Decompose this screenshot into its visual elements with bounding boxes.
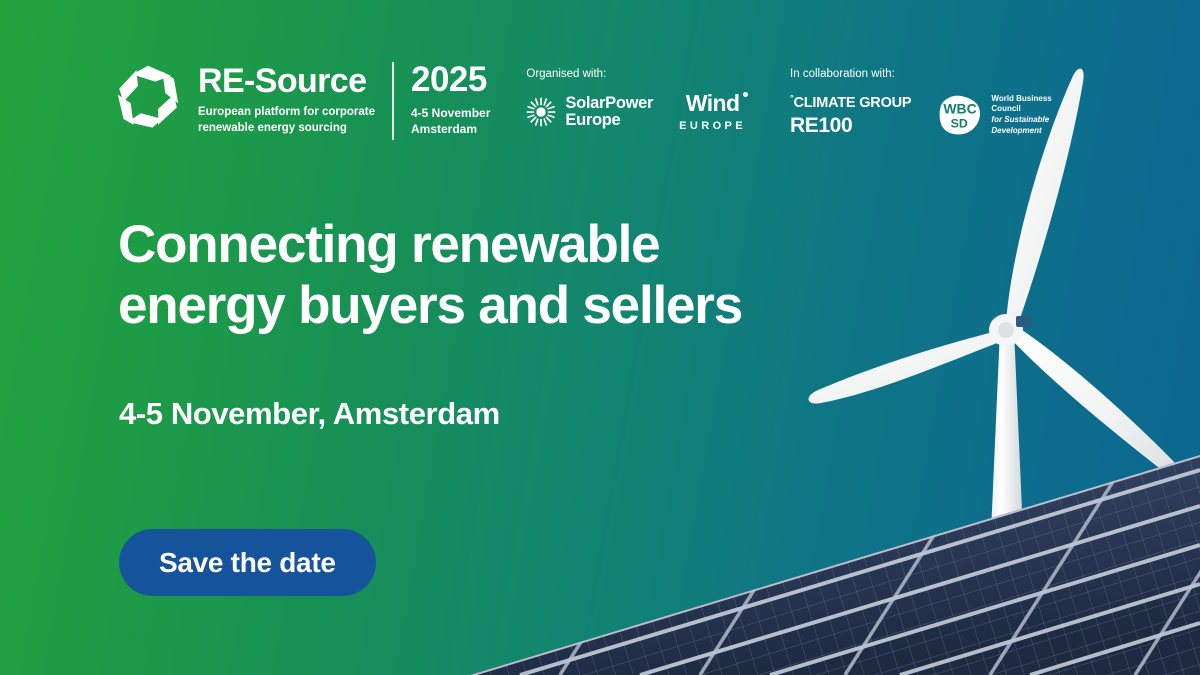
svg-text:WBC: WBC [944,100,977,116]
brand-tagline-line1: European platform for corporate [198,106,375,118]
organised-with-group: Organised with: [526,68,746,132]
svg-text:SD: SD [951,116,968,130]
climate-group-re100-logo[interactable]: °CLIMATE GROUP RE100 [790,94,911,136]
collaboration-group: In collaboration with: °CLIMATE GROUP RE… [790,68,1052,138]
re-source-2025-promo-banner: RE-Source European platform for corporat… [0,0,1200,675]
wbcsd-desc-line3: for Sustainable [991,115,1049,124]
windeurope-line1: Wind [686,92,740,115]
windeurope-logo[interactable]: Wind EUROPE [679,92,746,132]
organised-with-caption: Organised with: [526,68,746,80]
re-source-aperture-icon [112,60,184,132]
event-subheading: 4-5 November, Amsterdam [119,396,500,432]
wbcsd-desc-line1: World Business [991,94,1051,103]
wbcsd-desc-line2: Council [991,104,1020,113]
collaboration-caption: In collaboration with: [790,68,1052,80]
banner-header: RE-Source European platform for corporat… [112,60,1200,140]
solar-panel-array-illustration [440,440,1200,675]
event-dates-location: 4-5 November Amsterdam [411,105,490,137]
solarpower-line1: SolarPower [565,94,653,112]
windeurope-line2: EUROPE [679,120,746,132]
event-city: Amsterdam [411,122,477,136]
partner-logos: Organised with: [526,60,1051,138]
re-source-brand-lockup: RE-Source European platform for corporat… [112,60,375,136]
climate-group-label: °CLIMATE GROUP [790,94,911,110]
solarpower-line2: Europe [565,111,620,129]
windeurope-wordmark: Wind [686,90,740,116]
event-year-block: 2025 4-5 November Amsterdam [411,60,490,137]
header-divider [392,62,394,140]
headline-line1: Connecting renewable [118,215,659,274]
solarpower-europe-logo[interactable]: SolarPower Europe [526,95,653,129]
event-dates: 4-5 November [411,106,490,120]
headline: Connecting renewable energy buyers and s… [118,214,742,337]
windeurope-dot-icon [743,92,748,97]
wbcsd-monogram-icon: WBC SD [937,92,983,138]
wbcsd-desc-line4: Development [991,126,1041,135]
save-the-date-button[interactable]: Save the date [119,529,376,596]
solarpower-europe-label: SolarPower Europe [565,95,653,129]
brand-title: RE-Source [198,64,375,98]
wind-turbine-illustration [809,69,1187,600]
headline-line2: energy buyers and sellers [118,276,742,335]
brand-tagline-line2: renewable energy sourcing [198,122,347,134]
event-year: 2025 [411,62,490,97]
sunburst-icon [526,97,556,127]
brand-tagline: European platform for corporate renewabl… [198,105,375,136]
re100-label: RE100 [790,115,911,136]
wbcsd-logo[interactable]: WBC SD World Business Council for Sustai… [937,92,1051,138]
climate-group-text: CLIMATE GROUP [793,95,911,111]
wbcsd-description: World Business Council for Sustainable D… [991,94,1051,136]
